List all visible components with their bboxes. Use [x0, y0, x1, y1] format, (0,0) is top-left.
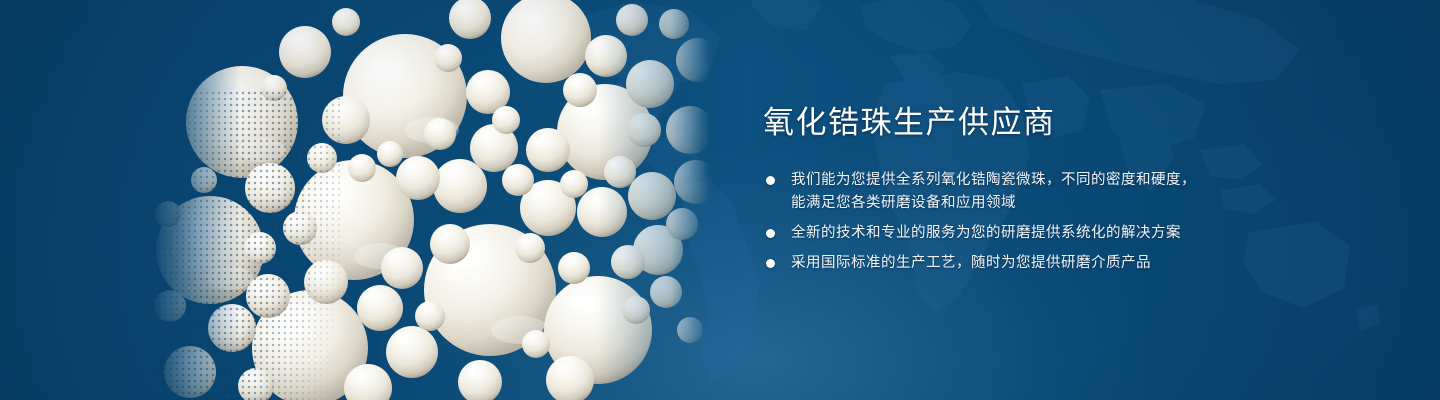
banner-bullet-list: 我们能为您提供全系列氧化锆陶瓷微珠，不同的密度和硬度， 能满足您各类研磨设备和应… [763, 169, 1323, 275]
bullet-line: 能满足您各类研磨设备和应用领域 [791, 192, 1323, 215]
banner-copy: 氧化锆珠生产供应商 我们能为您提供全系列氧化锆陶瓷微珠，不同的密度和硬度， 能满… [763, 104, 1323, 275]
bullet-dot-icon [766, 176, 775, 185]
bullet-dot-icon [766, 229, 775, 238]
hero-banner: 氧化锆珠生产供应商 我们能为您提供全系列氧化锆陶瓷微珠，不同的密度和硬度， 能满… [0, 0, 1440, 400]
banner-bullet-item: 采用国际标准的生产工艺，随时为您提供研磨介质产品 [763, 252, 1323, 275]
bullet-line: 我们能为您提供全系列氧化锆陶瓷微珠，不同的密度和硬度， [791, 169, 1323, 192]
banner-headline: 氧化锆珠生产供应商 [763, 104, 1323, 143]
bullet-line: 全新的技术和专业的服务为您的研磨提供系统化的解决方案 [791, 222, 1323, 245]
banner-bullet-item: 全新的技术和专业的服务为您的研磨提供系统化的解决方案 [763, 222, 1323, 245]
bullet-dot-icon [766, 259, 775, 268]
bullet-line: 采用国际标准的生产工艺，随时为您提供研磨介质产品 [791, 252, 1323, 275]
banner-bullet-item: 我们能为您提供全系列氧化锆陶瓷微珠，不同的密度和硬度， 能满足您各类研磨设备和应… [763, 169, 1323, 215]
